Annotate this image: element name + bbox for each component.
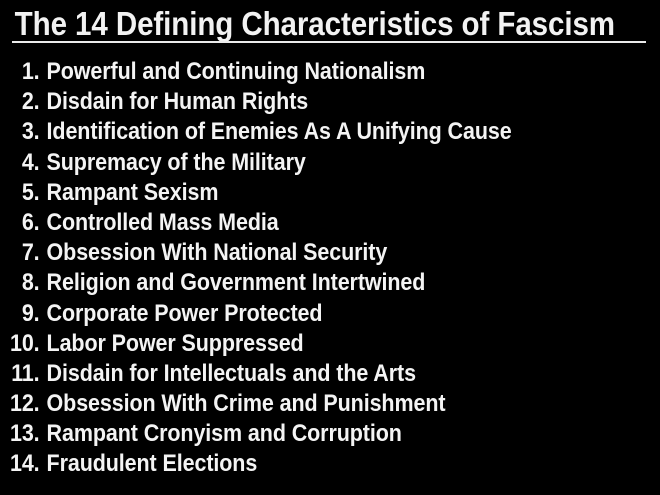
list-item: 9.Corporate Power Protected <box>0 299 660 329</box>
list-item: 10.Labor Power Suppressed <box>0 329 660 359</box>
list-item-inner: 1.Powerful and Continuing Nationalism <box>0 57 591 87</box>
slide-title-block: The 14 Defining Characteristics of Fasci… <box>12 6 648 42</box>
list-item-inner: 12.Obsession With Crime and Punishment <box>0 389 591 419</box>
list-item-inner: 8.Religion and Government Intertwined <box>0 268 591 298</box>
list-item: 8.Religion and Government Intertwined <box>0 268 660 298</box>
list-item-number: 11. <box>0 359 39 389</box>
list-item-number: 9. <box>0 299 39 329</box>
list-item-label: Identification of Enemies As A Unifying … <box>39 117 511 147</box>
list-item-label: Controlled Mass Media <box>39 208 278 238</box>
list-item-inner: 7.Obsession With National Security <box>0 238 591 268</box>
list-item: 3.Identification of Enemies As A Unifyin… <box>0 117 660 147</box>
title-underline-rule <box>12 41 646 43</box>
list-item-number: 5. <box>0 178 39 208</box>
list-item-label: Disdain for Human Rights <box>39 87 308 117</box>
list-item-label: Rampant Sexism <box>39 178 218 208</box>
list-item-number: 4. <box>0 148 39 178</box>
list-item-label: Corporate Power Protected <box>39 299 322 329</box>
list-item-label: Powerful and Continuing Nationalism <box>39 57 425 87</box>
list-item-label: Obsession With National Security <box>39 238 387 268</box>
list-item: 7.Obsession With National Security <box>0 238 660 268</box>
list-item-label: Religion and Government Intertwined <box>39 268 425 298</box>
list-item-label: Disdain for Intellectuals and the Arts <box>39 359 416 389</box>
list-item: 11.Disdain for Intellectuals and the Art… <box>0 359 660 389</box>
list-item: 1.Powerful and Continuing Nationalism <box>0 57 660 87</box>
list-item-inner: 9.Corporate Power Protected <box>0 299 591 329</box>
slide-canvas: The 14 Defining Characteristics of Fasci… <box>0 0 660 495</box>
list-item-number: 8. <box>0 268 39 298</box>
list-item-number: 13. <box>0 419 39 449</box>
list-item-number: 1. <box>0 57 39 87</box>
list-item-number: 10. <box>0 329 39 359</box>
list-item-inner: 13.Rampant Cronyism and Corruption <box>0 419 591 449</box>
list-item: 6.Controlled Mass Media <box>0 208 660 238</box>
list-item-label: Fraudulent Elections <box>39 449 257 479</box>
list-item-inner: 6.Controlled Mass Media <box>0 208 591 238</box>
list-item-label: Supremacy of the Military <box>39 148 305 178</box>
list-item-label: Labor Power Suppressed <box>39 329 303 359</box>
list-item: 14.Fraudulent Elections <box>0 449 660 479</box>
list-item-inner: 4.Supremacy of the Military <box>0 148 591 178</box>
list-item-number: 12. <box>0 389 39 419</box>
list-item-number: 7. <box>0 238 39 268</box>
list-item: 4.Supremacy of the Military <box>0 148 660 178</box>
list-item-inner: 14.Fraudulent Elections <box>0 449 591 479</box>
list-item: 5.Rampant Sexism <box>0 178 660 208</box>
list-item-number: 2. <box>0 87 39 117</box>
page-title: The 14 Defining Characteristics of Fasci… <box>12 6 581 42</box>
list-item-inner: 2.Disdain for Human Rights <box>0 87 591 117</box>
list-item-label: Rampant Cronyism and Corruption <box>39 419 401 449</box>
list-item-number: 6. <box>0 208 39 238</box>
list-item-inner: 10.Labor Power Suppressed <box>0 329 591 359</box>
list-item: 13.Rampant Cronyism and Corruption <box>0 419 660 449</box>
list-item-number: 14. <box>0 449 39 479</box>
list-item-inner: 3.Identification of Enemies As A Unifyin… <box>0 117 591 147</box>
list-item: 12.Obsession With Crime and Punishment <box>0 389 660 419</box>
list-item-number: 3. <box>0 117 39 147</box>
list-item-inner: 11.Disdain for Intellectuals and the Art… <box>0 359 591 389</box>
list-item-inner: 5.Rampant Sexism <box>0 178 591 208</box>
characteristics-list: 1.Powerful and Continuing Nationalism 2.… <box>0 57 660 480</box>
list-item: 2.Disdain for Human Rights <box>0 87 660 117</box>
list-item-label: Obsession With Crime and Punishment <box>39 389 445 419</box>
